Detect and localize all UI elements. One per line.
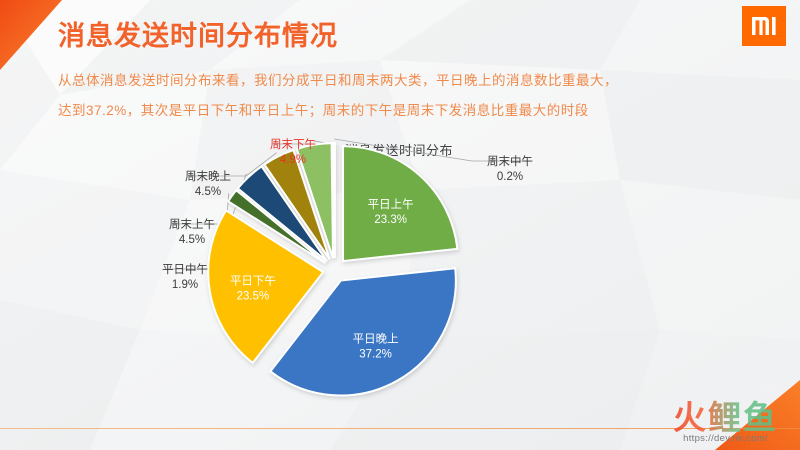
pie-label-1-name: 平日晚上 (353, 333, 399, 346)
pie-label-5-name: 周末晚上 (185, 169, 231, 183)
pie-label-4-value: 4.5% (179, 234, 205, 246)
pie-label-1-value: 37.2% (359, 349, 392, 361)
pie-label-0-value: 23.3% (374, 214, 407, 226)
mi-logo-icon (751, 16, 777, 36)
pie-label-7-value: 0.2% (497, 171, 523, 183)
pie-chart: 平日上午23.3%平日晚上37.2%平日下午23.5%平日中午1.9%周末上午4… (130, 130, 670, 430)
page-subtitle-line-1: 从总体消息发送时间分布来看，我们分成平日和周末两大类，平日晚上的消息数比重最大， (58, 66, 758, 96)
pie-label-2-name: 平日下午 (230, 274, 276, 287)
pie-label-7-name: 周末中午 (487, 154, 533, 168)
watermark: 火鲤鱼 https://dev.mi.com/ (673, 400, 778, 444)
pie-slices (208, 143, 457, 395)
pie-label-3-value: 1.9% (172, 279, 198, 291)
pie-label-6-value: 4.9% (280, 154, 306, 166)
chart-container: 消息发送时间分布 平日上午23.3%平日晚上37.2%平日下午23.5%平日中午… (0, 130, 800, 430)
watermark-text: 火鲤鱼 (673, 400, 778, 436)
page-title: 消息发送时间分布情况 (58, 14, 338, 53)
page-subtitle: 从总体消息发送时间分布来看，我们分成平日和周末两大类，平日晚上的消息数比重最大，… (58, 66, 758, 126)
page-subtitle-line-2: 达到37.2%，其次是平日下午和平日上午；周末的下午是周末下发消息比重最大的时段 (58, 96, 758, 126)
pie-label-4-name: 周末上午 (169, 217, 215, 231)
mi-logo (742, 6, 786, 46)
pie-label-6-name: 周末下午 (270, 137, 316, 151)
pie-label-3-name: 平日中午 (162, 263, 208, 276)
pie-label-2-value: 23.5% (237, 290, 270, 302)
pie-label-5-value: 4.5% (195, 186, 221, 198)
pie-label-0-name: 平日上午 (368, 198, 414, 211)
